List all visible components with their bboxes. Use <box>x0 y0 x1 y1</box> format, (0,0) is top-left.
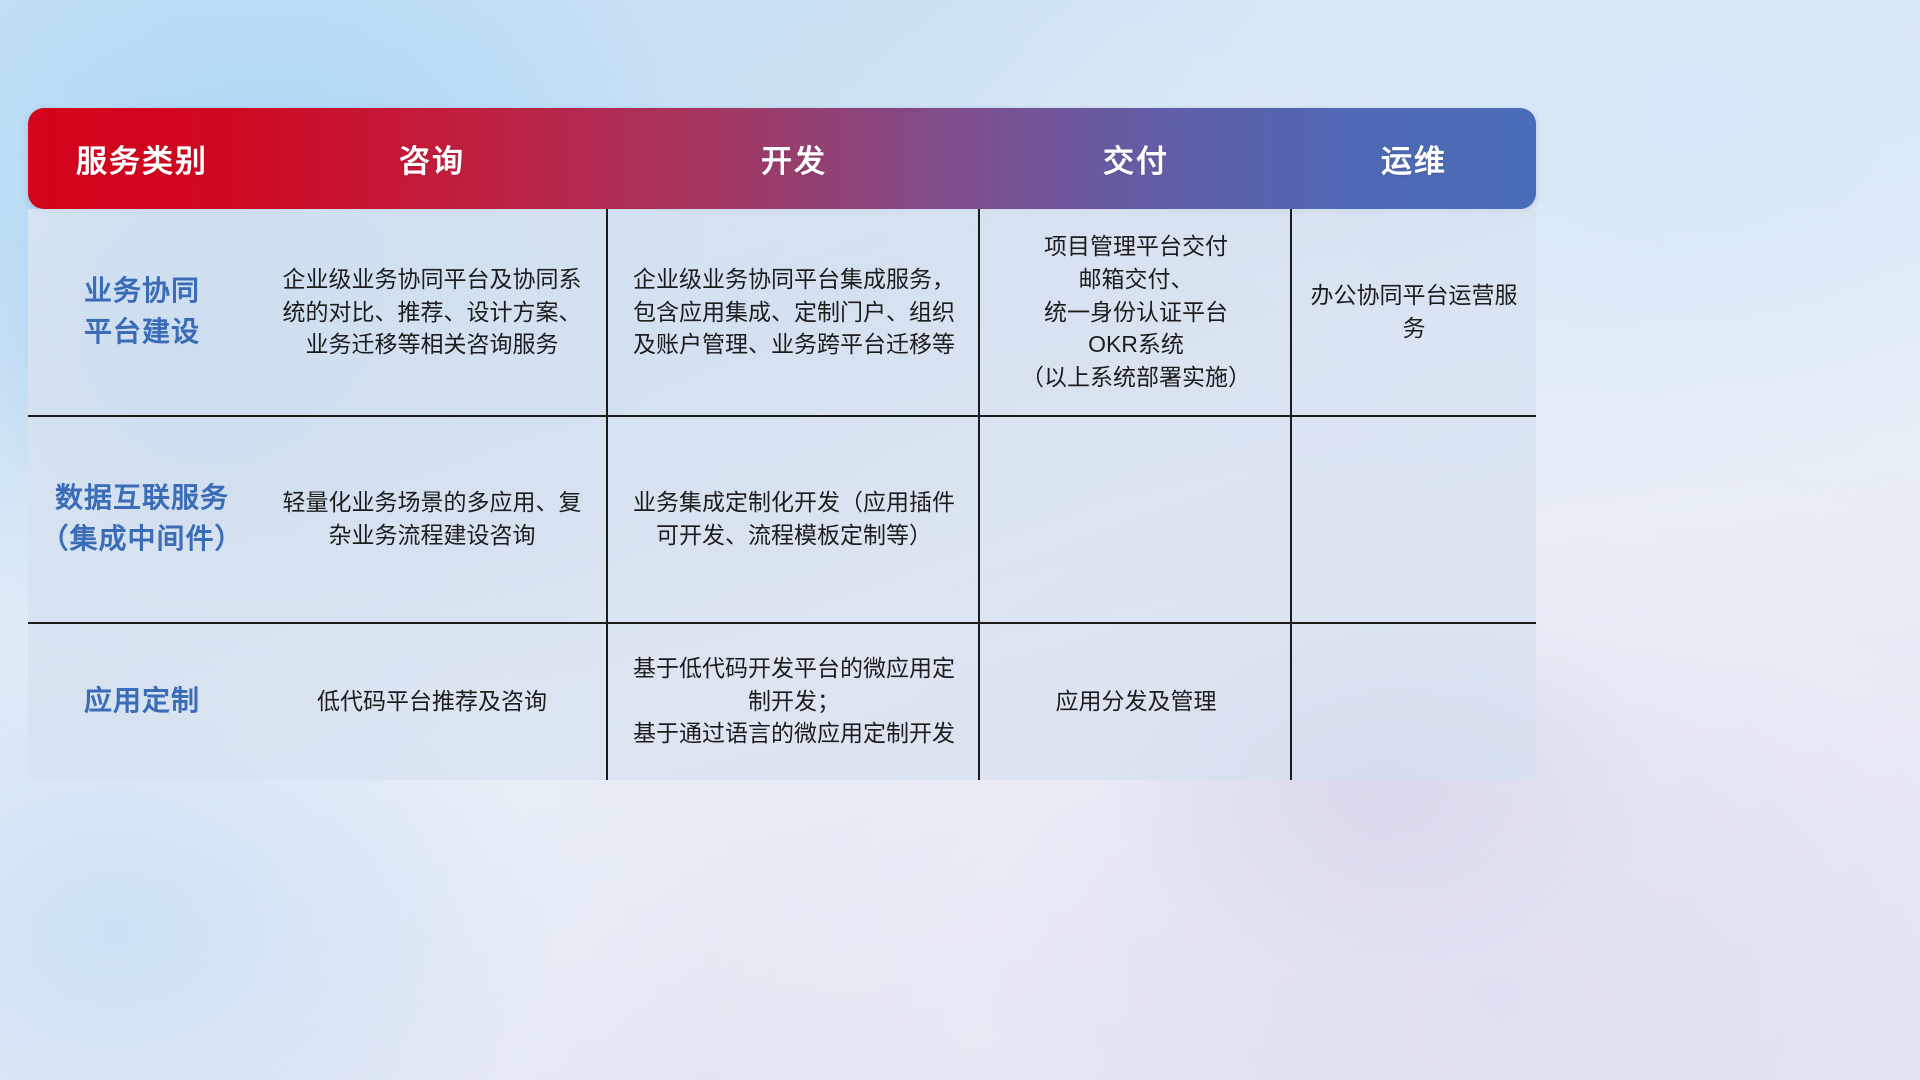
header-cell-category: 服务类别 <box>28 108 256 209</box>
cell-delivery-row1: 项目管理平台交付 邮箱交付、 统一身份认证平台 OKR系统 （以上系统部署实施） <box>980 209 1292 415</box>
table-body: 业务协同 平台建设 企业级业务协同平台及协同系 统的对比、推荐、设计方案、 业务… <box>28 209 1536 780</box>
header-cell-operations: 运维 <box>1292 108 1536 209</box>
table-row: 业务协同 平台建设 企业级业务协同平台及协同系 统的对比、推荐、设计方案、 业务… <box>28 209 1536 415</box>
row-label-business-collaboration: 业务协同 平台建设 <box>28 209 256 415</box>
header-cell-development: 开发 <box>608 108 980 209</box>
header-cell-consulting: 咨询 <box>256 108 608 209</box>
cell-consulting-row3: 低代码平台推荐及咨询 <box>256 622 608 780</box>
row-label-data-interconnect: 数据互联服务 （集成中间件） <box>28 415 256 622</box>
cell-delivery-row2 <box>980 415 1292 622</box>
cell-development-row2: 业务集成定制化开发（应用插件 可开发、流程模板定制等） <box>608 415 980 622</box>
cell-operations-row1: 办公协同平台运营服务 <box>1292 209 1536 415</box>
table-header-row: 服务类别 咨询 开发 交付 运维 <box>28 108 1536 209</box>
cell-consulting-row1: 企业级业务协同平台及协同系 统的对比、推荐、设计方案、 业务迁移等相关咨询服务 <box>256 209 608 415</box>
cell-development-row3: 基于低代码开发平台的微应用定 制开发； 基于通过语言的微应用定制开发 <box>608 622 980 780</box>
cell-operations-row2 <box>1292 415 1536 622</box>
cell-delivery-row3: 应用分发及管理 <box>980 622 1292 780</box>
slide-canvas: 服务类别 咨询 开发 交付 运维 业务协同 平台建设 企业级业务协同平台及协同系… <box>0 0 1920 1080</box>
table-row: 应用定制 低代码平台推荐及咨询 基于低代码开发平台的微应用定 制开发； 基于通过… <box>28 622 1536 780</box>
cell-operations-row3 <box>1292 622 1536 780</box>
cell-consulting-row2: 轻量化业务场景的多应用、复 杂业务流程建设咨询 <box>256 415 608 622</box>
table-row: 数据互联服务 （集成中间件） 轻量化业务场景的多应用、复 杂业务流程建设咨询 业… <box>28 415 1536 622</box>
header-cell-delivery: 交付 <box>980 108 1292 209</box>
service-matrix-table: 服务类别 咨询 开发 交付 运维 业务协同 平台建设 企业级业务协同平台及协同系… <box>28 108 1536 780</box>
row-label-app-customization: 应用定制 <box>28 622 256 780</box>
cell-development-row1: 企业级业务协同平台集成服务， 包含应用集成、定制门户、组织 及账户管理、业务跨平… <box>608 209 980 415</box>
